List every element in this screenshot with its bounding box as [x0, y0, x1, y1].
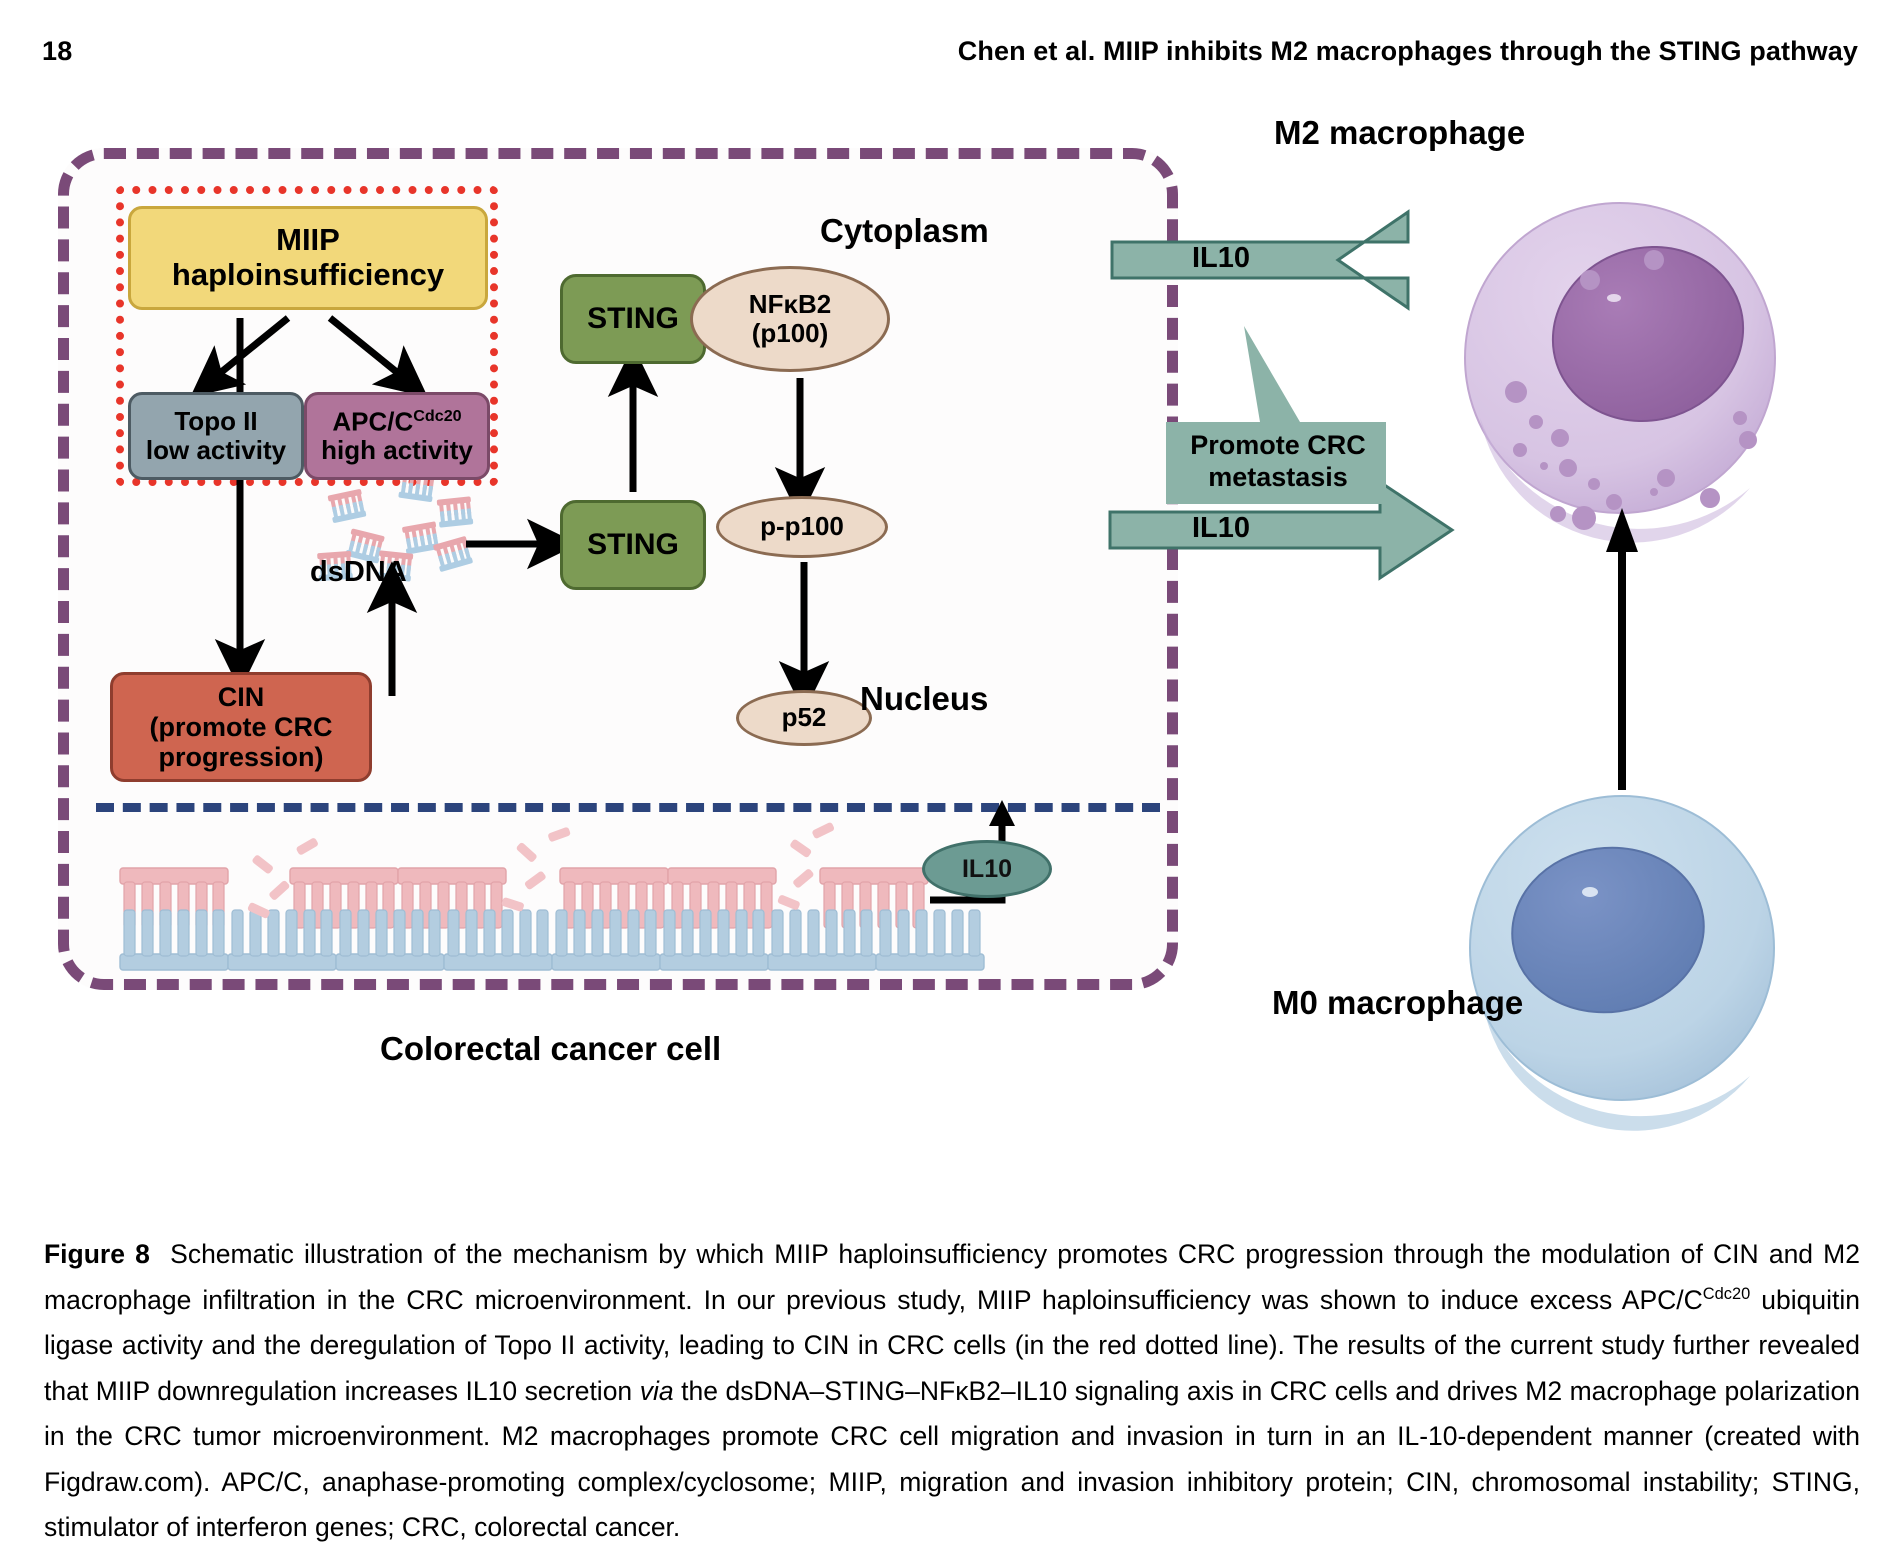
- label-il10-arrow-left: IL10: [1192, 242, 1250, 275]
- node-il10-nucleus[interactable]: IL10: [922, 840, 1052, 898]
- m2-granules: [1505, 250, 1757, 530]
- topo-line1: Topo II: [174, 406, 257, 436]
- label-il10-arrow-right: IL10: [1192, 512, 1250, 545]
- m2-nucleus: [1530, 223, 1766, 446]
- m0-macrophage-cell: [1470, 796, 1774, 1131]
- node-sting-upper[interactable]: STING: [560, 274, 706, 364]
- label-cytoplasm: Cytoplasm: [820, 212, 989, 250]
- caption-italic1: via: [640, 1376, 674, 1406]
- page-number: 18: [42, 36, 72, 67]
- label-promote-crc-metastasis: Promote CRC metastasis: [1168, 430, 1388, 494]
- nfkb2-line1: NFκB2: [749, 289, 831, 319]
- apc-line2: high activity: [321, 435, 473, 465]
- node-nfkb2-p100[interactable]: NFκB2 (p100): [690, 266, 890, 372]
- label-m0-macrophage: M0 macrophage: [1272, 984, 1523, 1022]
- figure-caption: Figure 8 Schematic illustration of the m…: [44, 1232, 1860, 1551]
- running-head: 18 Chen et al. MIIP inhibits M2 macropha…: [0, 36, 1902, 76]
- label-dsdna: dsDNA: [310, 556, 407, 589]
- apc-line1: APC/C: [332, 406, 413, 436]
- topo-line2: low activity: [146, 435, 286, 465]
- nfkb2-line2: (p100): [752, 318, 829, 348]
- figure-page: 18 Chen et al. MIIP inhibits M2 macropha…: [0, 0, 1902, 1560]
- nucleus-membrane-divider: [96, 803, 1160, 812]
- caption-label: Figure 8: [44, 1239, 150, 1269]
- cin-line3: progression): [158, 742, 323, 772]
- m0-nucleus: [1502, 835, 1715, 1024]
- apc-superscript: Cdc20: [413, 407, 461, 425]
- node-cin[interactable]: CIN (promote CRC progression): [110, 672, 372, 782]
- miip-line1: MIIP: [276, 222, 340, 257]
- promote-line1: Promote CRC: [1190, 430, 1366, 460]
- caption-part1: Schematic illustration of the mechanism …: [44, 1239, 1860, 1315]
- label-colorectal-cancer-cell: Colorectal cancer cell: [380, 1030, 721, 1068]
- m0-to-m2-arrow: [1606, 508, 1638, 790]
- label-m2-macrophage: M2 macrophage: [1274, 114, 1525, 152]
- figure-canvas: MIIP haploinsufficiency Topo II low acti…: [0, 100, 1902, 1220]
- node-p-p100[interactable]: p-p100: [716, 496, 888, 558]
- node-p52[interactable]: p52: [736, 690, 872, 746]
- caption-sup1: Cdc20: [1703, 1285, 1750, 1303]
- promote-line2: metastasis: [1208, 462, 1348, 492]
- miip-line2: haploinsufficiency: [172, 257, 444, 292]
- m2-macrophage-cell: [1465, 203, 1775, 543]
- node-topo-ii[interactable]: Topo II low activity: [128, 392, 304, 480]
- running-head-title: Chen et al. MIIP inhibits M2 macrophages…: [958, 36, 1858, 67]
- cin-line2: (promote CRC: [150, 712, 333, 742]
- node-miip-haploinsufficiency[interactable]: MIIP haploinsufficiency: [128, 206, 488, 310]
- label-nucleus: Nucleus: [860, 680, 988, 718]
- node-sting-lower[interactable]: STING: [560, 500, 706, 590]
- node-apc-c-cdc20[interactable]: APC/CCdc20 high activity: [304, 392, 490, 480]
- cin-line1: CIN: [218, 682, 265, 712]
